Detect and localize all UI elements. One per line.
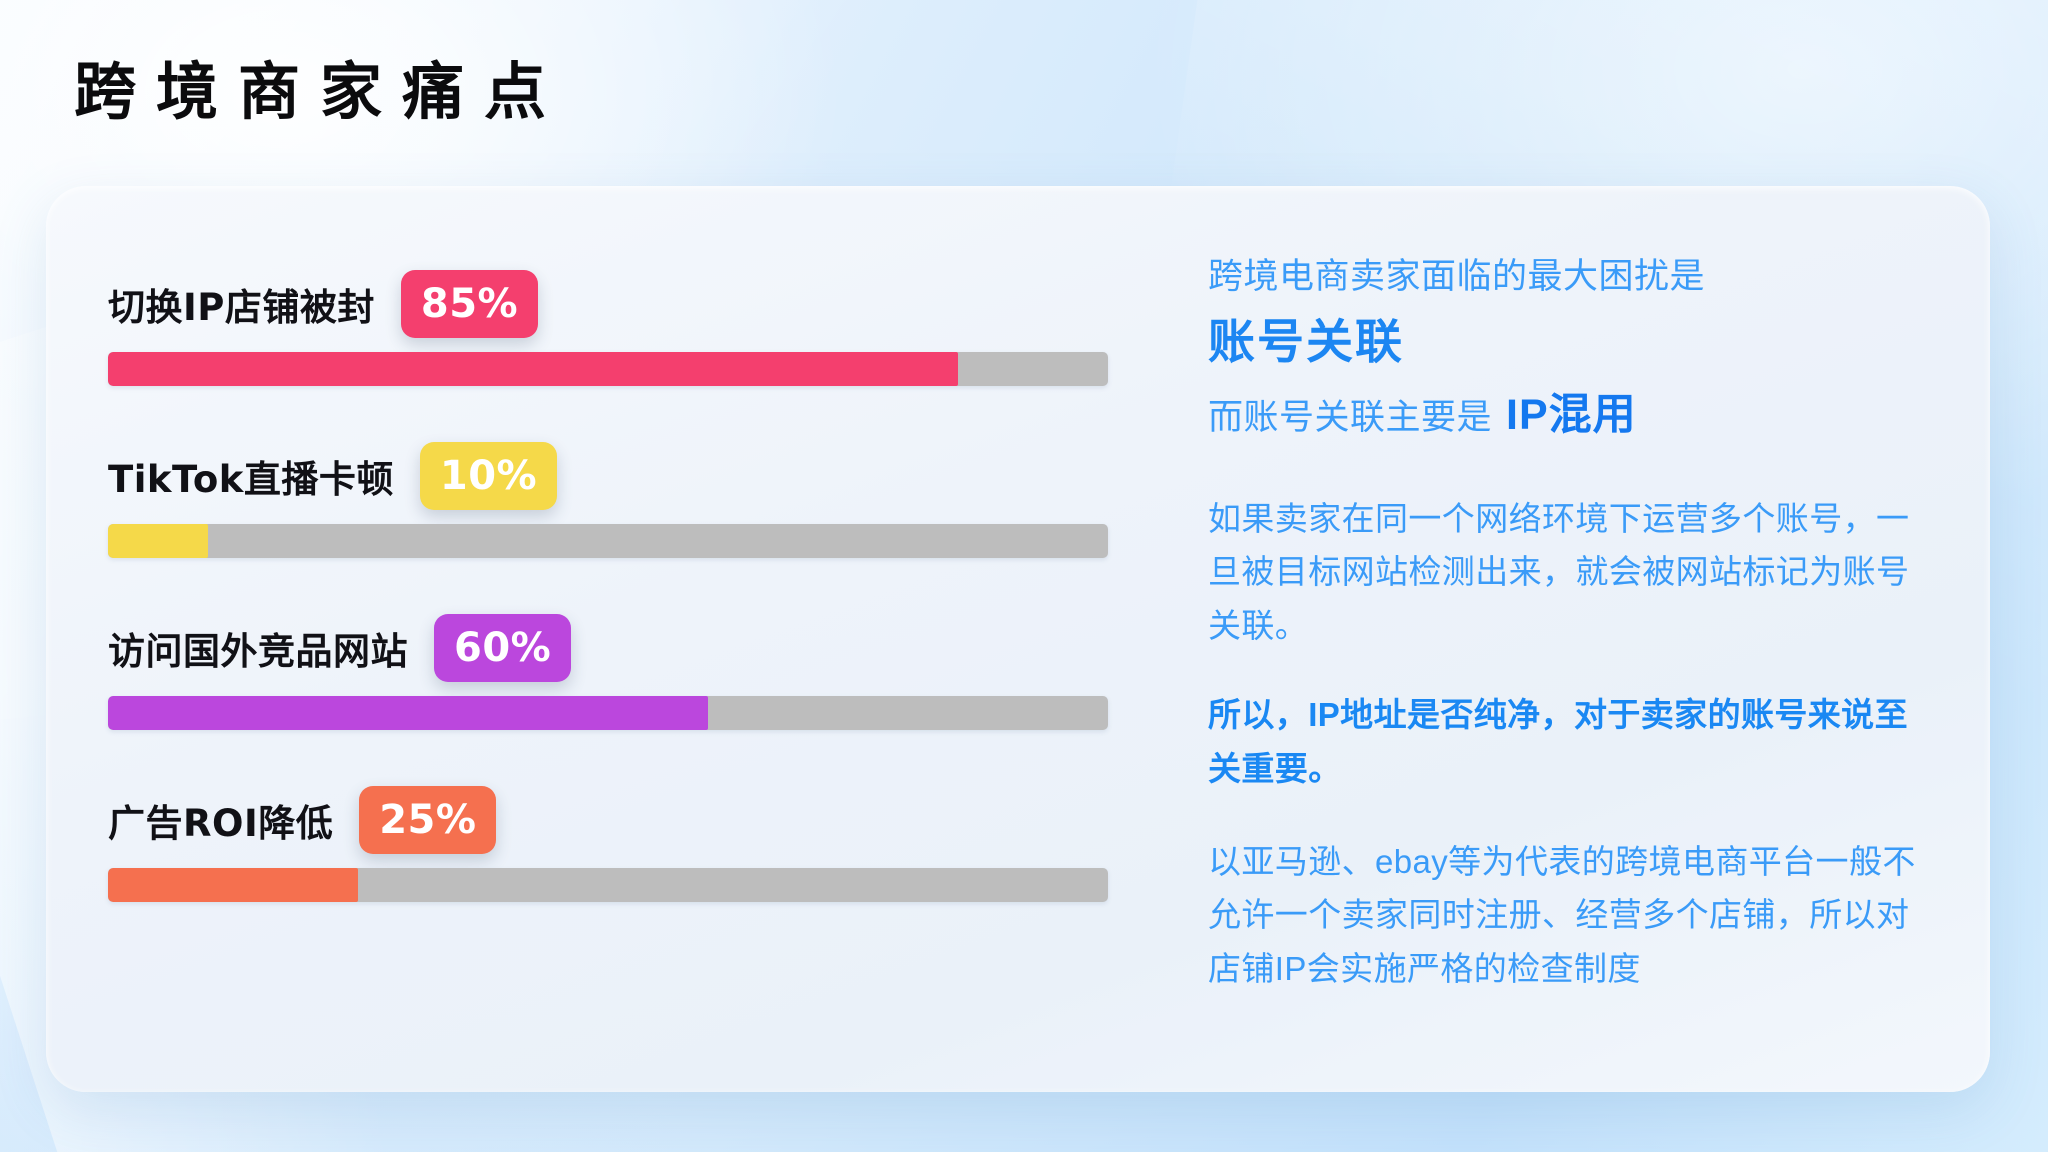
bar-header: 切换IP店铺被封 85% <box>108 256 1156 352</box>
percent-badge: 10% <box>420 442 557 510</box>
lead-secondary-line: 而账号关联主要是IP混用 <box>1208 383 1920 448</box>
paragraph-ip-importance: 所以，IP地址是否纯净，对于卖家的账号来说至关重要。 <box>1208 688 1920 795</box>
bar-fill <box>108 868 358 902</box>
content-card: 切换IP店铺被封 85% TikTok直播卡顿 10% 访问国外竞品网站 <box>46 186 1990 1092</box>
bar-header: 广告ROI降低 25% <box>108 772 1156 868</box>
bar-track <box>108 696 1108 730</box>
bar-fill <box>108 524 208 558</box>
percent-badge: 85% <box>401 270 538 338</box>
lead-secondary-accent: IP混用 <box>1506 391 1637 439</box>
bar-label: 切换IP店铺被封 <box>108 277 375 331</box>
bar-row: 访问国外竞品网站 60% <box>108 600 1156 772</box>
explanation-panel: 跨境电商卖家面临的最大困扰是 账号关联 而账号关联主要是IP混用 如果卖家在同一… <box>1156 186 1990 1092</box>
pain-point-bar-chart: 切换IP店铺被封 85% TikTok直播卡顿 10% 访问国外竞品网站 <box>46 186 1156 1092</box>
bar-label: 访问国外竞品网站 <box>108 621 408 675</box>
bar-fill <box>108 696 708 730</box>
lead-line: 跨境电商卖家面临的最大困扰是 <box>1208 252 1920 303</box>
bar-track <box>108 352 1108 386</box>
percent-badge: 60% <box>434 614 571 682</box>
paragraph-account-association: 如果卖家在同一个网络环境下运营多个账号，一旦被目标网站检测出来，就会被网站标记为… <box>1208 492 1920 652</box>
percent-badge: 25% <box>359 786 496 854</box>
bar-header: TikTok直播卡顿 10% <box>108 428 1156 524</box>
bar-row: 广告ROI降低 25% <box>108 772 1156 944</box>
page-title: 跨境商家痛点 <box>74 58 566 126</box>
bar-label: TikTok直播卡顿 <box>108 449 394 503</box>
bar-track <box>108 868 1108 902</box>
paragraph-platform-policy: 以亚马逊、ebay等为代表的跨境电商平台一般不允许一个卖家同时注册、经营多个店铺… <box>1208 835 1920 995</box>
bar-label: 广告ROI降低 <box>108 793 333 847</box>
bar-row: 切换IP店铺被封 85% <box>108 256 1156 428</box>
slide-canvas: 跨境商家痛点 切换IP店铺被封 85% TikTok直播卡顿 10% <box>0 0 2048 1152</box>
bar-header: 访问国外竞品网站 60% <box>108 600 1156 696</box>
lead-secondary-prefix: 而账号关联主要是 <box>1208 398 1492 437</box>
lead-keyword: 账号关联 <box>1208 307 1920 378</box>
bar-row: TikTok直播卡顿 10% <box>108 428 1156 600</box>
bar-fill <box>108 352 958 386</box>
bar-track <box>108 524 1108 558</box>
